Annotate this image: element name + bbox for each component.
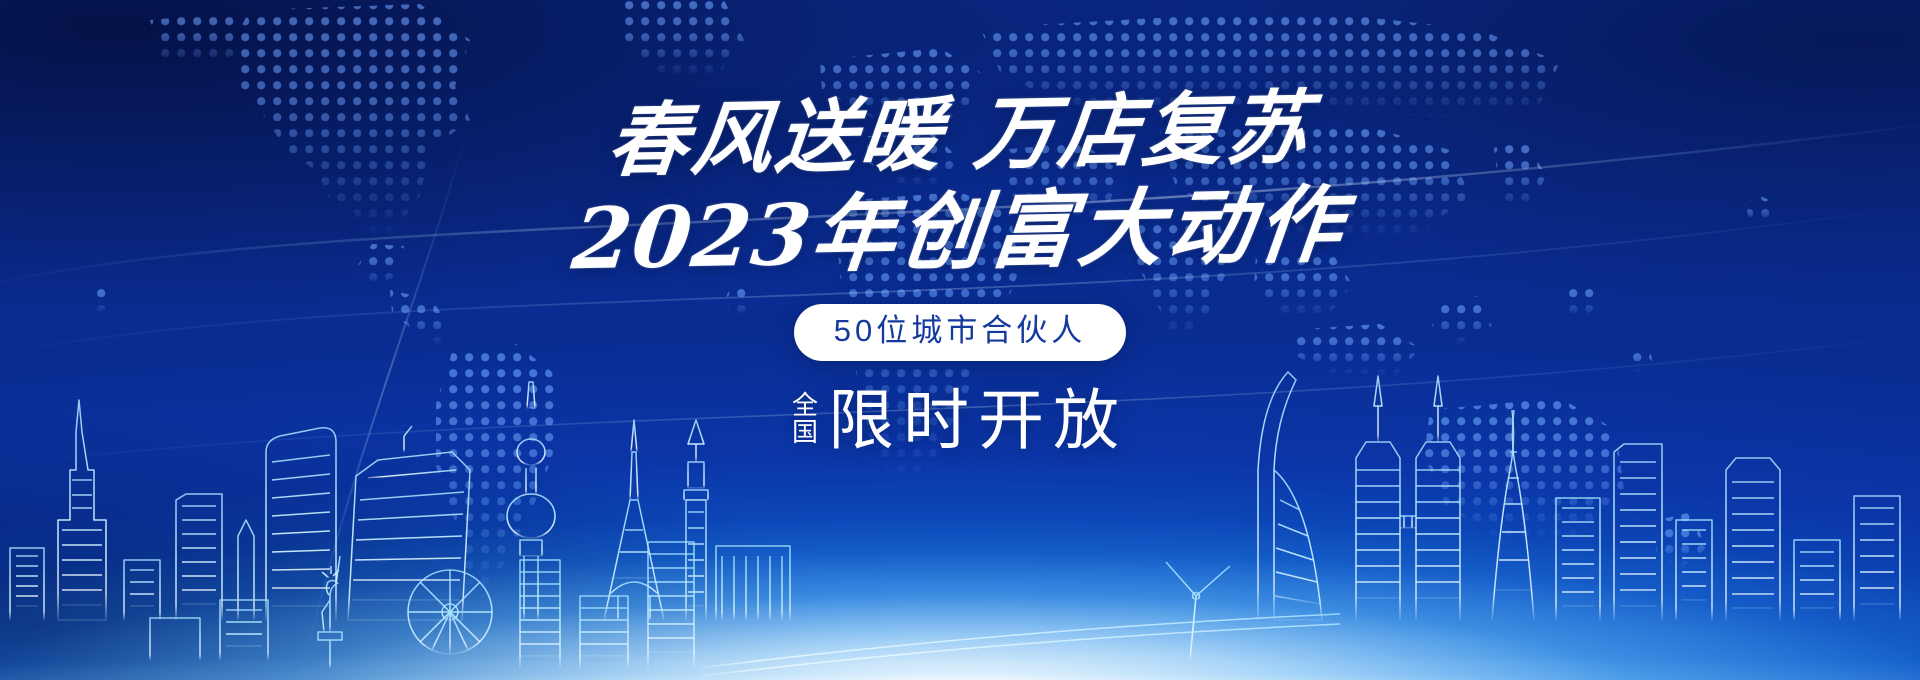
- partner-count-badge[interactable]: 50位城市合伙人: [794, 304, 1126, 361]
- partner-count-badge-label: 50位城市合伙人: [834, 313, 1086, 350]
- promotional-banner: 春风送暖万店复苏 2023年创富大动作 50位城市合伙人 全 国 限时开放: [0, 0, 1920, 680]
